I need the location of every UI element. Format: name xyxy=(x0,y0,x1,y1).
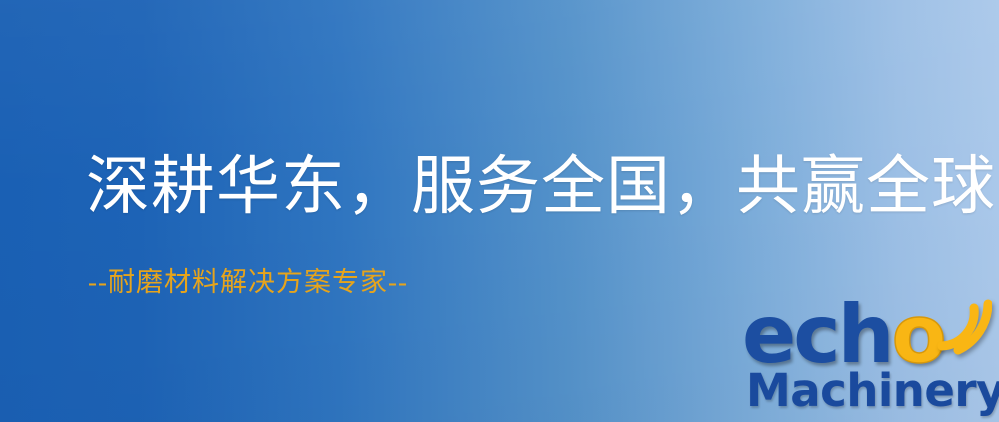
logo-wordmark: echo xyxy=(742,296,944,374)
logo-tagline-text: Machinery xyxy=(746,364,999,417)
hero-banner: 深耕华东，服务全国，共赢全球 --耐磨材料解决方案专家-- echo Machi… xyxy=(0,0,999,422)
signal-arcs-icon xyxy=(928,294,992,356)
logo-tagline: Machinery® xyxy=(746,364,999,417)
banner-headline: 深耕华东，服务全国，共赢全球 xyxy=(86,150,996,224)
banner-subheadline: --耐磨材料解决方案专家-- xyxy=(88,266,408,298)
company-logo[interactable]: echo Machinery® xyxy=(742,296,999,422)
